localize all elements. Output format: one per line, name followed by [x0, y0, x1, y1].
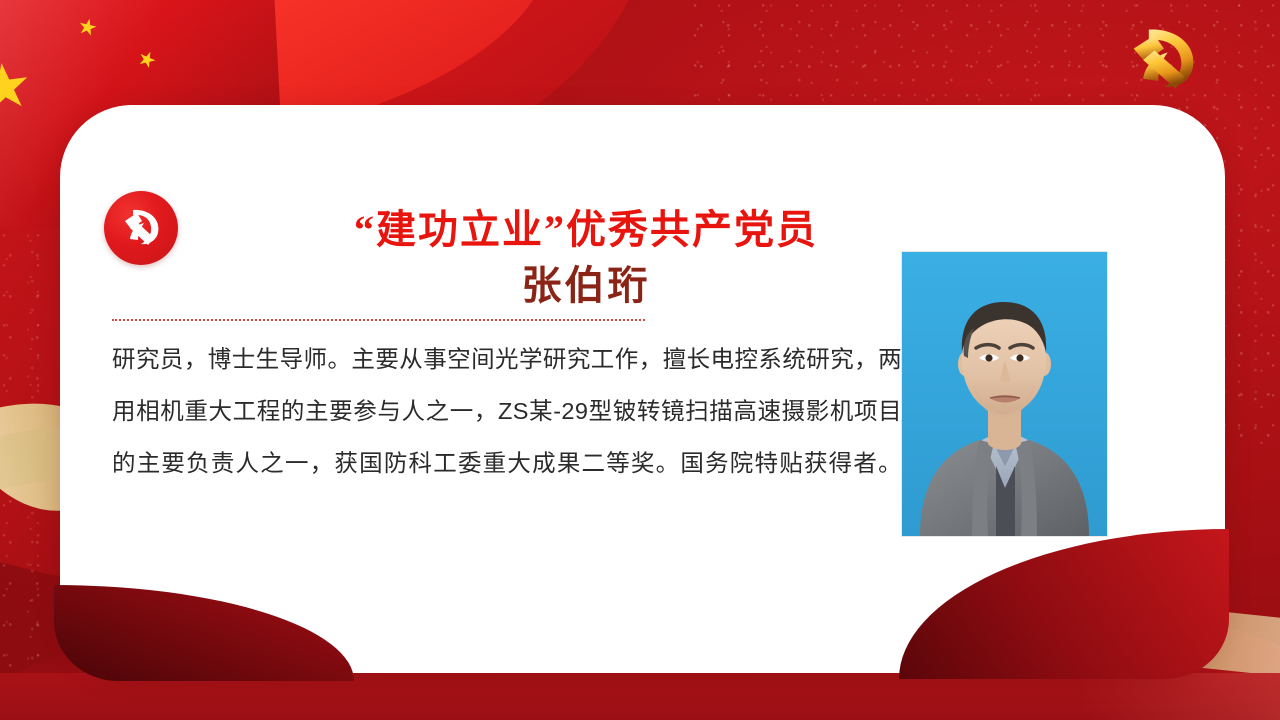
bottom-red-strip	[0, 673, 1280, 720]
content-card: “建功立业”优秀共产党员 张伯珩 研究员，博士生导师。主要从事空间光学研究工作，…	[60, 105, 1225, 673]
card-bottom-right-wave	[899, 529, 1229, 679]
person-biography: 研究员，博士生导师。主要从事空间光学研究工作，擅长电控系统研究，两用相机重大工程…	[112, 333, 902, 489]
slide-canvas: ★ ★ ★ ★ ★	[0, 0, 1280, 720]
gold-party-emblem-icon	[1116, 22, 1212, 96]
party-emblem-hammer-sickle-icon	[104, 191, 178, 265]
person-portrait-photo	[901, 251, 1108, 537]
person-name: 张伯珩	[206, 253, 966, 311]
page-title: “建功立业”优秀共产党员	[206, 197, 966, 255]
dotted-divider	[112, 319, 645, 321]
